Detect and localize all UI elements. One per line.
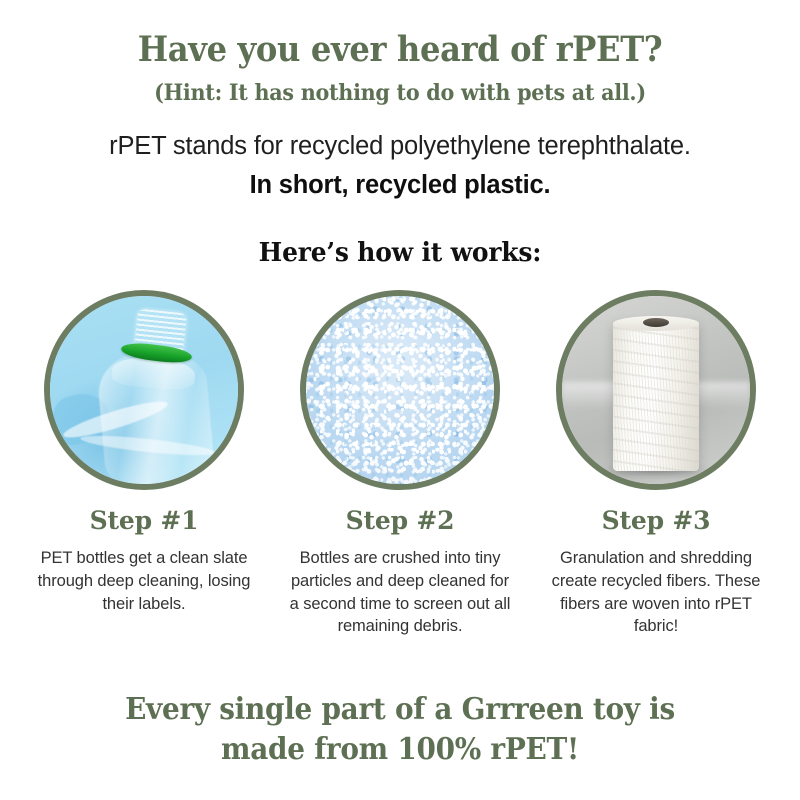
step-1-image-circle	[44, 290, 244, 490]
definition-line-2: In short, recycled plastic.	[0, 170, 800, 202]
step-2-label: Step #2	[284, 506, 516, 535]
step-2-image-circle	[300, 290, 500, 490]
step-3: Step #3 Granulation and shredding create…	[540, 290, 772, 638]
page-title: Have you ever heard of rPET?	[32, 30, 768, 70]
step-1: Step #1 PET bottles get a clean slate th…	[28, 290, 260, 615]
steps-row: Step #1 PET bottles get a clean slate th…	[0, 290, 800, 638]
footer-block: Every single part of a Grrreen toy is ma…	[0, 690, 800, 769]
spool-center-hole	[643, 318, 669, 327]
spool-body	[613, 320, 699, 470]
step-1-label: Step #1	[28, 506, 260, 535]
step-3-caption: Granulation and shredding create recycle…	[544, 547, 769, 638]
white-thread-spool-photo	[562, 296, 750, 484]
crushed-pet-bottle-photo	[50, 296, 238, 484]
infographic-page: Have you ever heard of rPET? (Hint: It h…	[0, 0, 800, 800]
spool-thread-windings	[613, 320, 699, 470]
definition-line-1: rPET stands for recycled polyethylene te…	[0, 131, 800, 163]
step-2-caption: Bottles are crushed into tiny particles …	[288, 547, 513, 638]
header-block: Have you ever heard of rPET? (Hint: It h…	[0, 0, 800, 107]
step-3-label: Step #3	[540, 506, 772, 535]
step-2: Step #2 Bottles are crushed into tiny pa…	[284, 290, 516, 638]
how-it-works-heading: Here’s how it works:	[16, 238, 784, 268]
hint-subtitle: (Hint: It has nothing to do with pets at…	[32, 80, 768, 107]
footer-line-2: made from 100% rPET!	[28, 730, 772, 770]
pellet-vignette	[306, 296, 494, 484]
step-3-image-circle	[556, 290, 756, 490]
footer-line-1: Every single part of a Grrreen toy is	[28, 690, 772, 730]
step-1-caption: PET bottles get a clean slate through de…	[32, 547, 257, 615]
blue-plastic-pellets-photo	[306, 296, 494, 484]
definition-block: rPET stands for recycled polyethylene te…	[0, 131, 800, 202]
